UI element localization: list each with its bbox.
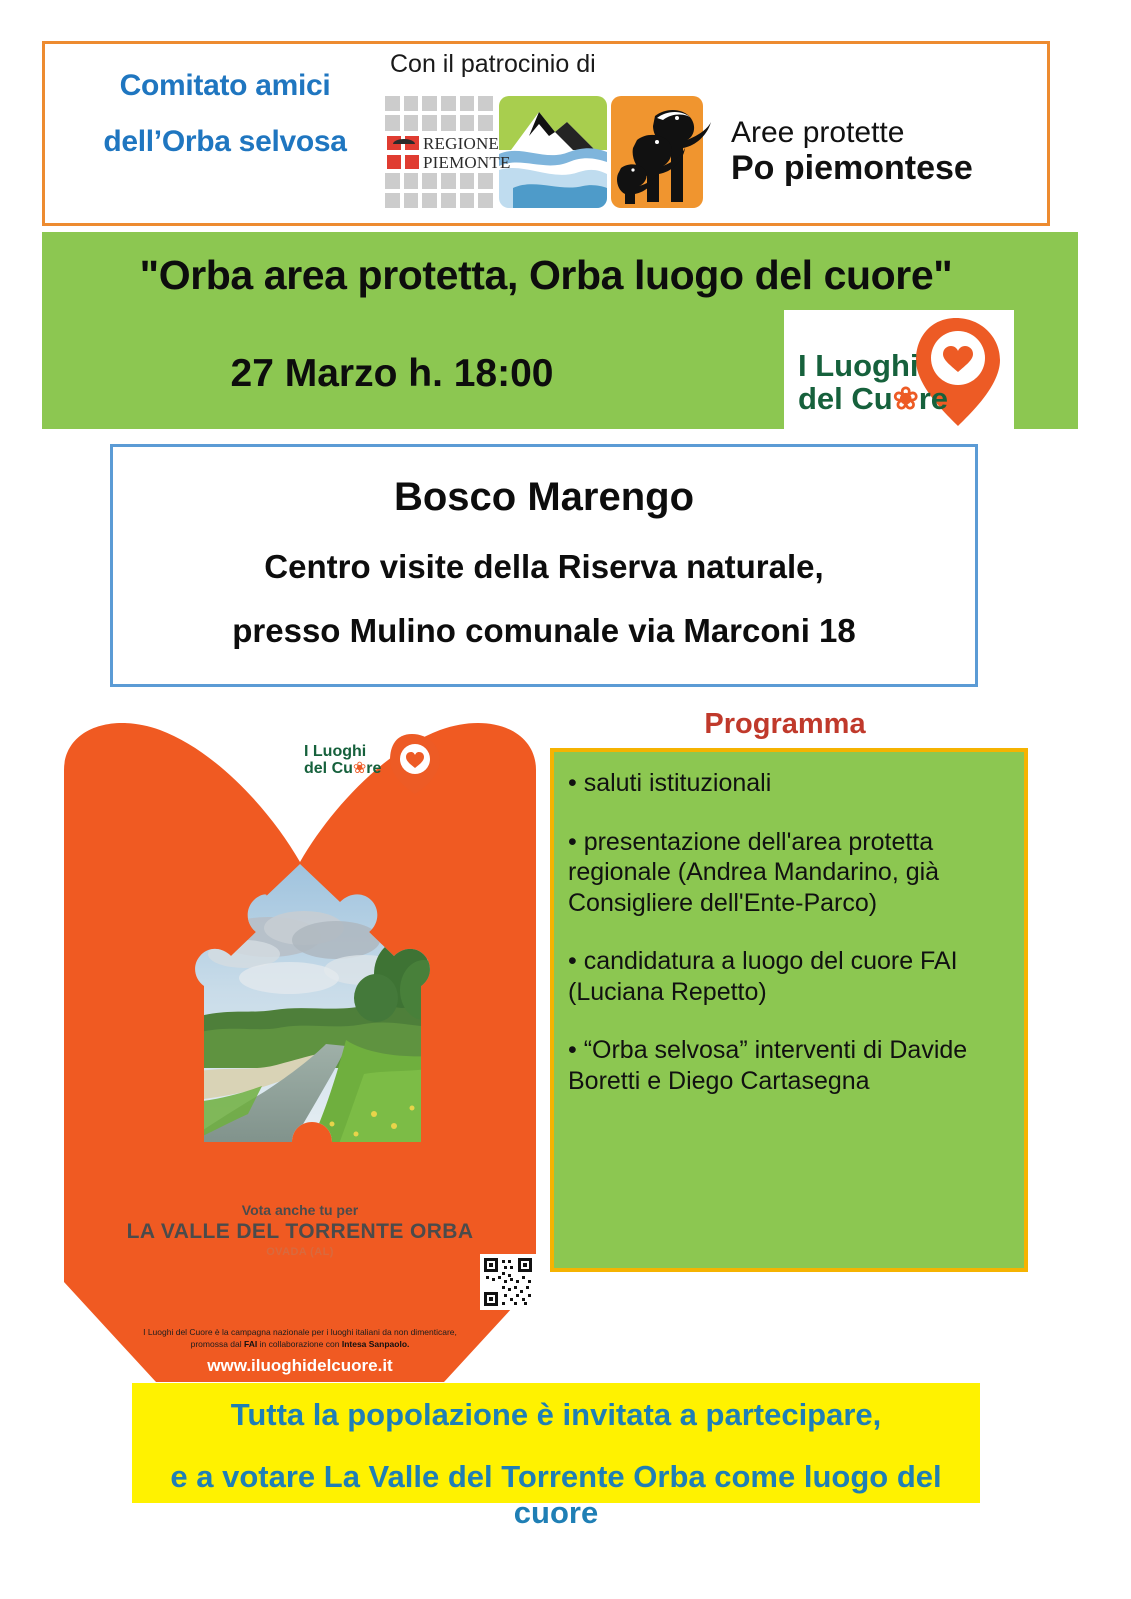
heart-flyer-graphic — [64, 722, 536, 1382]
programma-box: • saluti istituzionali • presentazione d… — [550, 748, 1028, 1272]
programma-item: • candidatura a luogo del cuore FAI (Luc… — [568, 946, 1012, 1007]
regione-piemonte-wordmark: REGIONE PIEMONTE — [423, 134, 511, 172]
aree-protette-line-1: Aree protette — [731, 117, 973, 149]
sponsor-logos-row: REGIONE PIEMONTE — [385, 92, 973, 212]
header-box: Comitato amici dell’Orba selvosa Con il … — [42, 41, 1050, 226]
luoghi-del-cuore-badge: I Luoghi del Cu❀re — [784, 310, 1014, 429]
programma-title: Programma — [550, 708, 1020, 741]
piemonte-squares-icon — [387, 136, 421, 170]
event-date: 27 Marzo h. 18:00 — [42, 352, 742, 396]
regione-line: REGIONE — [423, 134, 511, 153]
location-box: Bosco Marengo Centro visite della Riserv… — [110, 444, 978, 687]
aree-protette-wordmark: Aree protette Po piemontese — [731, 117, 973, 186]
flyer-footnote: I Luoghi del Cuore è la campagna naziona… — [100, 1326, 500, 1351]
flyer-place-name: LA VALLE DEL TORRENTE ORBA — [64, 1220, 536, 1244]
footnote-line-1: I Luoghi del Cuore è la campagna naziona… — [100, 1326, 500, 1338]
luoghi-logo-line-1: I Luoghi — [798, 350, 948, 383]
aree-protette-line-2: Po piemontese — [731, 150, 973, 187]
clover-mark: ❀ — [893, 381, 919, 416]
parco-po-piemontese-logo — [499, 96, 607, 208]
programma-item: • “Orba selvosa” interventi di Davide Bo… — [568, 1035, 1012, 1096]
piemonte-line: PIEMONTE — [423, 153, 511, 172]
organizer-line-2: dell’Orba selvosa — [65, 114, 385, 170]
venue-name: Bosco Marengo — [113, 475, 975, 520]
flyer-city: OVADA (AL) — [64, 1246, 536, 1258]
flyer-logo-line-2: del Cu❀re — [304, 761, 381, 778]
footnote-line-2: promossa dal FAI in collaborazione con I… — [100, 1338, 500, 1350]
event-title: "Orba area protetta, Orba luogo del cuor… — [42, 252, 1050, 299]
programma-item: • presentazione dell'area protetta regio… — [568, 827, 1012, 919]
aree-protette-heron-logo — [611, 96, 715, 208]
flyer-vote-label: Vota anche tu per — [64, 1202, 536, 1220]
call-to-action-line-1: Tutta la popolazione è invitata a partec… — [132, 1397, 980, 1433]
patronage-label: Con il patrocinio di — [390, 50, 596, 79]
regione-piemonte-logo: REGIONE PIEMONTE — [385, 96, 493, 208]
event-title-band: "Orba area protetta, Orba luogo del cuor… — [42, 232, 1078, 429]
organizer-line-1: Comitato amici — [65, 58, 385, 114]
flyer-website-url[interactable]: www.iluoghidelcuore.it — [64, 1356, 536, 1376]
flyer-luoghi-del-cuore-logo: I Luoghi del Cu❀re — [304, 732, 444, 794]
call-to-action-line-2: e a votare La Valle del Torrente Orba co… — [132, 1459, 980, 1531]
organizer-name: Comitato amici dell’Orba selvosa — [65, 58, 385, 170]
call-to-action-banner: Tutta la popolazione è invitata a partec… — [132, 1383, 980, 1503]
venue-line-1: Centro visite della Riserva naturale, — [113, 548, 975, 586]
flyer-logo-line-1: I Luoghi — [304, 744, 381, 761]
venue-line-2: presso Mulino comunale via Marconi 18 — [113, 612, 975, 650]
luoghi-logo-line-2: del Cu❀re — [798, 383, 948, 416]
qr-code[interactable] — [480, 1254, 536, 1310]
programma-item: • saluti istituzionali — [568, 768, 1012, 799]
luoghi-del-cuore-flyer: I Luoghi del Cu❀re Vota anche tu per LA … — [64, 722, 536, 1382]
